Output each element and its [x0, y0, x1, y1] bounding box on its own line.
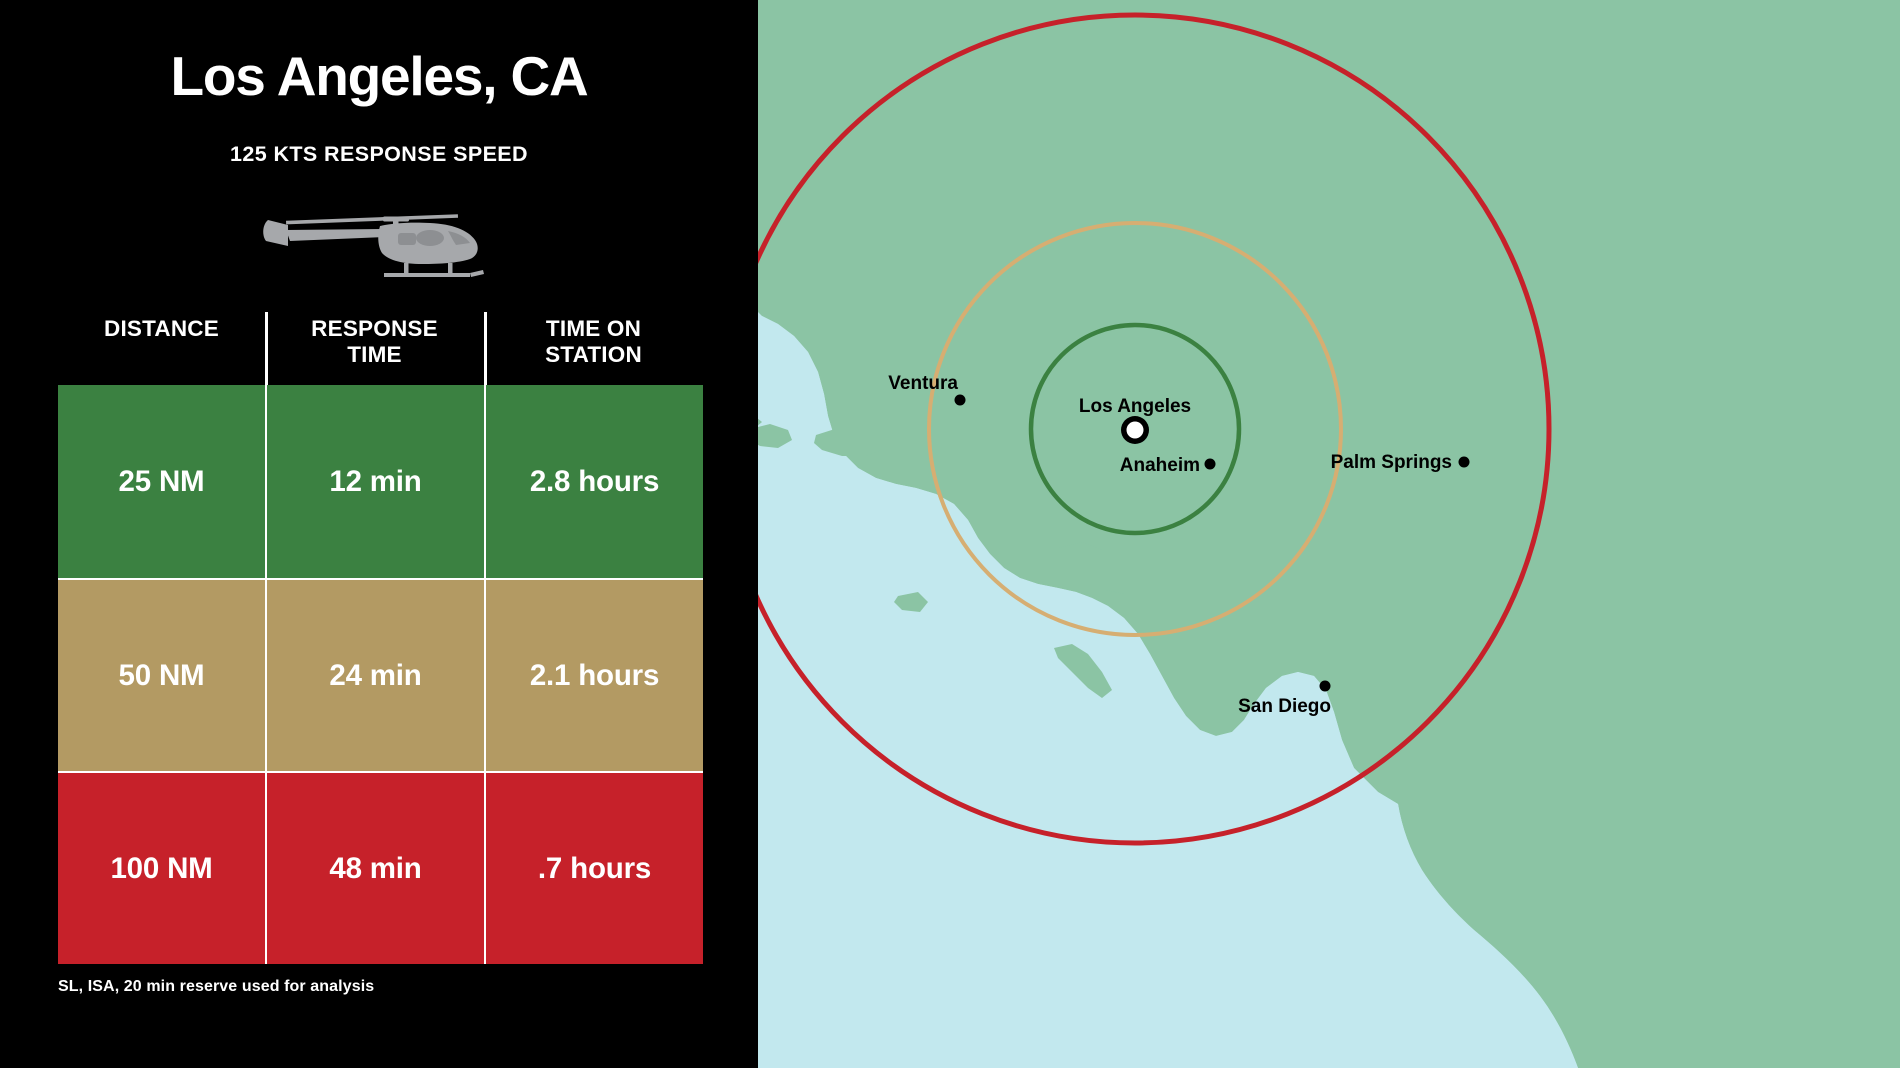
response-table: DISTANCE RESPONSE TIME TIME ON STATION 2	[58, 312, 703, 964]
city-dot-anaheim	[1205, 459, 1216, 470]
city-label-ventura: Ventura	[888, 373, 958, 394]
cell-response-time: 24 min	[265, 578, 484, 771]
page-title: Los Angeles, CA	[0, 48, 758, 106]
coverage-map: Ventura Anaheim Palm Springs San Diego L…	[758, 0, 1900, 1068]
footnote: SL, ISA, 20 min reserve used for analysi…	[58, 978, 374, 996]
column-header-time-on-station: TIME ON STATION	[484, 312, 703, 385]
page-subtitle: 125 KTS RESPONSE SPEED	[0, 142, 758, 167]
cell-distance: 100 NM	[58, 771, 265, 964]
helicopter-icon	[252, 200, 492, 280]
cell-time-on-station: .7 hours	[484, 771, 703, 964]
origin-marker	[1121, 416, 1149, 444]
cell-response-time: 48 min	[265, 771, 484, 964]
city-label-san-diego: San Diego	[1238, 696, 1331, 717]
cell-response-time: 12 min	[265, 385, 484, 578]
city-dot-ventura	[955, 395, 966, 406]
cell-distance: 50 NM	[58, 578, 265, 771]
city-label-palm-springs: Palm Springs	[1331, 452, 1452, 473]
table-row: 50 NM 24 min 2.1 hours	[58, 578, 703, 771]
city-label-los-angeles: Los Angeles	[1079, 396, 1191, 417]
cell-distance: 25 NM	[58, 385, 265, 578]
city-label-anaheim: Anaheim	[1120, 455, 1200, 476]
city-dot-palm-springs	[1459, 457, 1470, 468]
cell-time-on-station: 2.1 hours	[484, 578, 703, 771]
table-header-row: DISTANCE RESPONSE TIME TIME ON STATION	[58, 312, 703, 385]
column-header-distance: DISTANCE	[58, 312, 265, 385]
table-row: 25 NM 12 min 2.8 hours	[58, 385, 703, 578]
table-row: 100 NM 48 min .7 hours	[58, 771, 703, 964]
cell-time-on-station: 2.8 hours	[484, 385, 703, 578]
column-header-response-time: RESPONSE TIME	[265, 312, 484, 385]
infographic-root: Los Angeles, CA 125 KTS RESPONSE SPEED	[0, 0, 1900, 1068]
city-dot-san-diego	[1320, 681, 1331, 692]
left-info-panel: Los Angeles, CA 125 KTS RESPONSE SPEED	[0, 0, 758, 1068]
